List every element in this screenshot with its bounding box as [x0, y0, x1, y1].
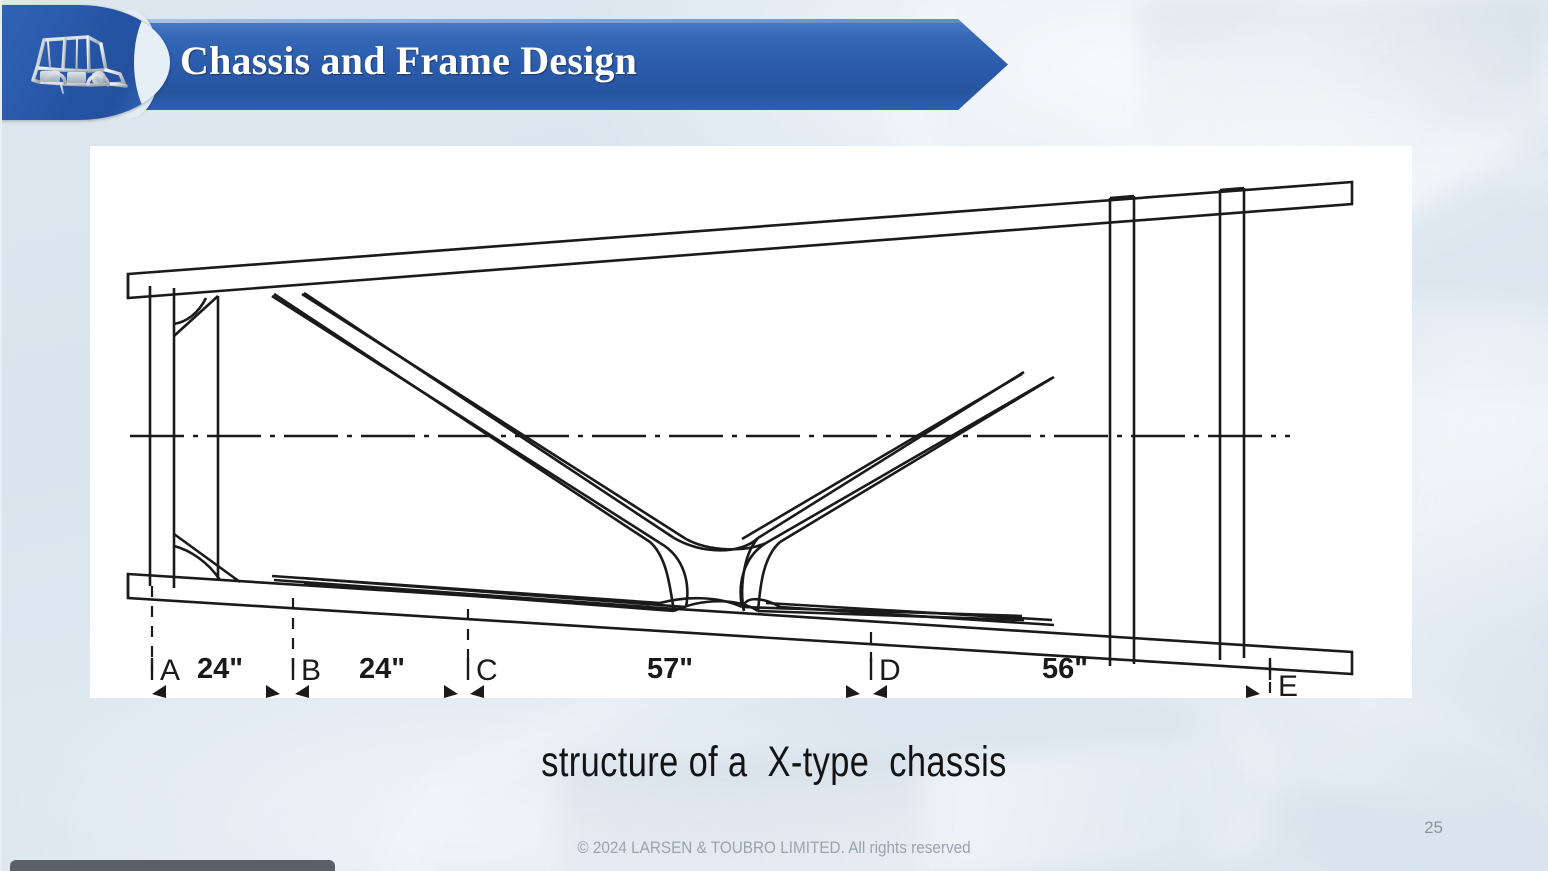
- car-body-frame-icon: [13, 22, 133, 104]
- background-shade: [1140, 0, 1540, 160]
- dimension-label-group: 24" 24" 57" 56": [197, 653, 1088, 685]
- scrollbar-thumb[interactable]: [10, 860, 335, 871]
- figure-image-panel: A B C D E 24" 24" 57" 56": [90, 146, 1412, 698]
- dimension-bc: 24": [359, 653, 405, 685]
- dimension-cd: 57": [647, 653, 693, 685]
- logo-badge: [0, 5, 170, 120]
- station-label-a: A: [160, 654, 180, 687]
- copyright-notice: © 2024 LARSEN & TOUBRO LIMITED. All righ…: [77, 838, 1470, 858]
- station-label-b: B: [301, 654, 321, 687]
- dimension-de: 56": [1042, 653, 1088, 685]
- station-label-e: E: [1278, 670, 1298, 698]
- page-number: 25: [1424, 818, 1443, 838]
- chassis-technical-drawing: A B C D E 24" 24" 57" 56": [90, 146, 1412, 698]
- dimension-ab: 24": [197, 653, 243, 685]
- window-left-edge: [0, 0, 2, 871]
- slide-header: Chassis and Frame Design: [0, 5, 1010, 120]
- slide-canvas: Chassis and Frame Design: [0, 0, 1548, 871]
- bottom-scrollbar-track[interactable]: [0, 859, 1548, 871]
- figure-caption: structure of a X-type chassis: [155, 738, 1393, 787]
- station-label-c: C: [476, 654, 498, 687]
- station-label-d: D: [879, 654, 901, 687]
- page-title: Chassis and Frame Design: [180, 37, 637, 84]
